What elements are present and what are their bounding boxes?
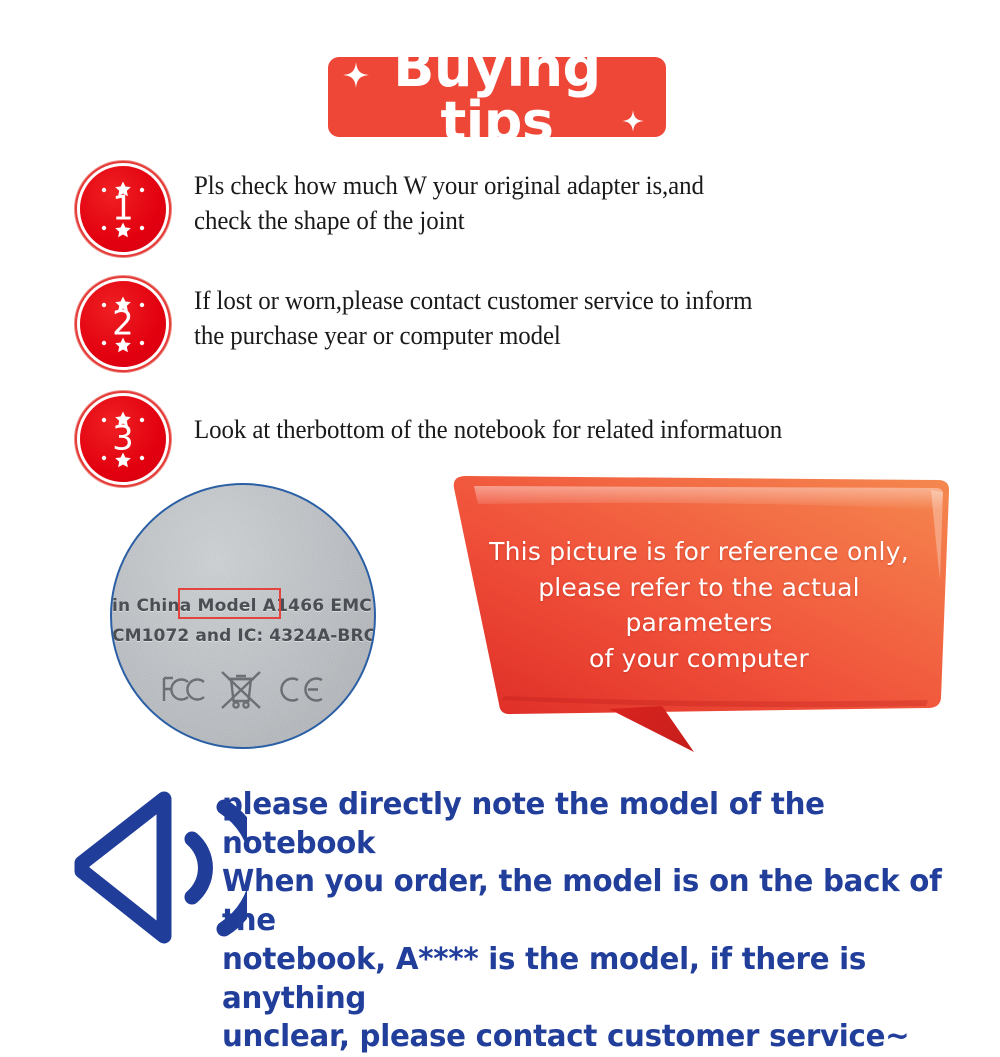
tip-number-badge: 2 xyxy=(74,275,172,373)
tip-text: If lost or worn,please contact customer … xyxy=(194,283,752,353)
tip-number-badge: 3 xyxy=(74,390,172,488)
order-notice-text: please directly note the model of the no… xyxy=(222,786,952,1057)
page-title: Buying tips xyxy=(328,41,666,149)
regulatory-symbols xyxy=(112,669,374,711)
page-title-banner: Buying tips xyxy=(328,57,666,137)
tip-text: Look at therbottom of the notebook for r… xyxy=(194,412,782,447)
tip-number-badge: 1 xyxy=(74,160,172,258)
ce-icon xyxy=(276,671,326,709)
weee-crossed-bin-icon xyxy=(219,669,263,711)
reference-note-bubble: This picture is for reference only, plea… xyxy=(444,474,954,758)
reference-note-text: This picture is for reference only, plea… xyxy=(474,534,924,676)
tip-item: 1 Pls check how much W your original ada… xyxy=(74,160,954,258)
tip-number: 3 xyxy=(74,421,172,455)
model-highlight-box xyxy=(178,588,281,619)
tip-item: 2 If lost or worn,please contact custome… xyxy=(74,275,954,373)
tip-text: Pls check how much W your original adapt… xyxy=(194,168,704,238)
speaker-icon xyxy=(72,785,247,950)
fcc-icon xyxy=(160,670,206,710)
tip-number: 2 xyxy=(74,306,172,340)
product-label-line-2: CM1072 and IC: 4324A-BRCM1072 xyxy=(112,626,374,646)
product-label-photo: in China Model A1466 EMC 2632 CM1072 and… xyxy=(110,483,376,749)
tip-number: 1 xyxy=(74,191,172,225)
